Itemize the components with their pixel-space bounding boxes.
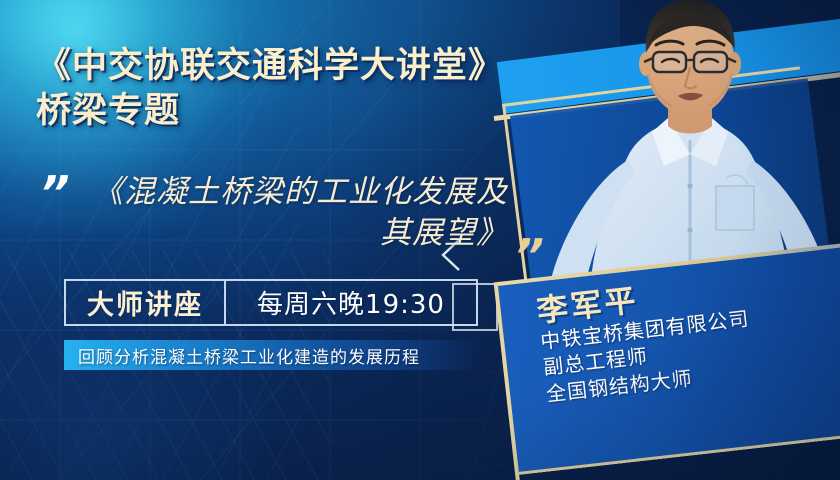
quote-mark-close: ” [514, 233, 542, 279]
secondary-glow [0, 300, 320, 480]
schedule-label: 每周六晚19:30 [226, 284, 476, 321]
description-bar: 回顾分析混凝土桥梁工业化建造的发展历程 [64, 340, 478, 370]
quote-mark-open: ” [40, 170, 68, 216]
page-title: 《中交协联交通科学大讲堂》 桥梁专题 [36, 44, 504, 134]
lecture-topic-text: 《混凝土桥梁的工业化发展及其展望》 [88, 172, 508, 254]
description-text: 回顾分析混凝土桥梁工业化建造的发展历程 [64, 343, 420, 368]
lecture-poster: 李军平 中铁宝桥集团有限公司 副总工程师 全国钢结构大师 《中交协联交通科学大讲… [0, 0, 840, 480]
series-label: 大师讲座 [66, 283, 224, 322]
lecture-info-box: 大师讲座 每周六晚19:30 [64, 279, 478, 326]
lecture-topic-quote: ” 《混凝土桥梁的工业化发展及其展望》 ” [40, 168, 510, 273]
speaker-nameplate: 李军平 中铁宝桥集团有限公司 副总工程师 全国钢结构大师 [498, 245, 840, 475]
